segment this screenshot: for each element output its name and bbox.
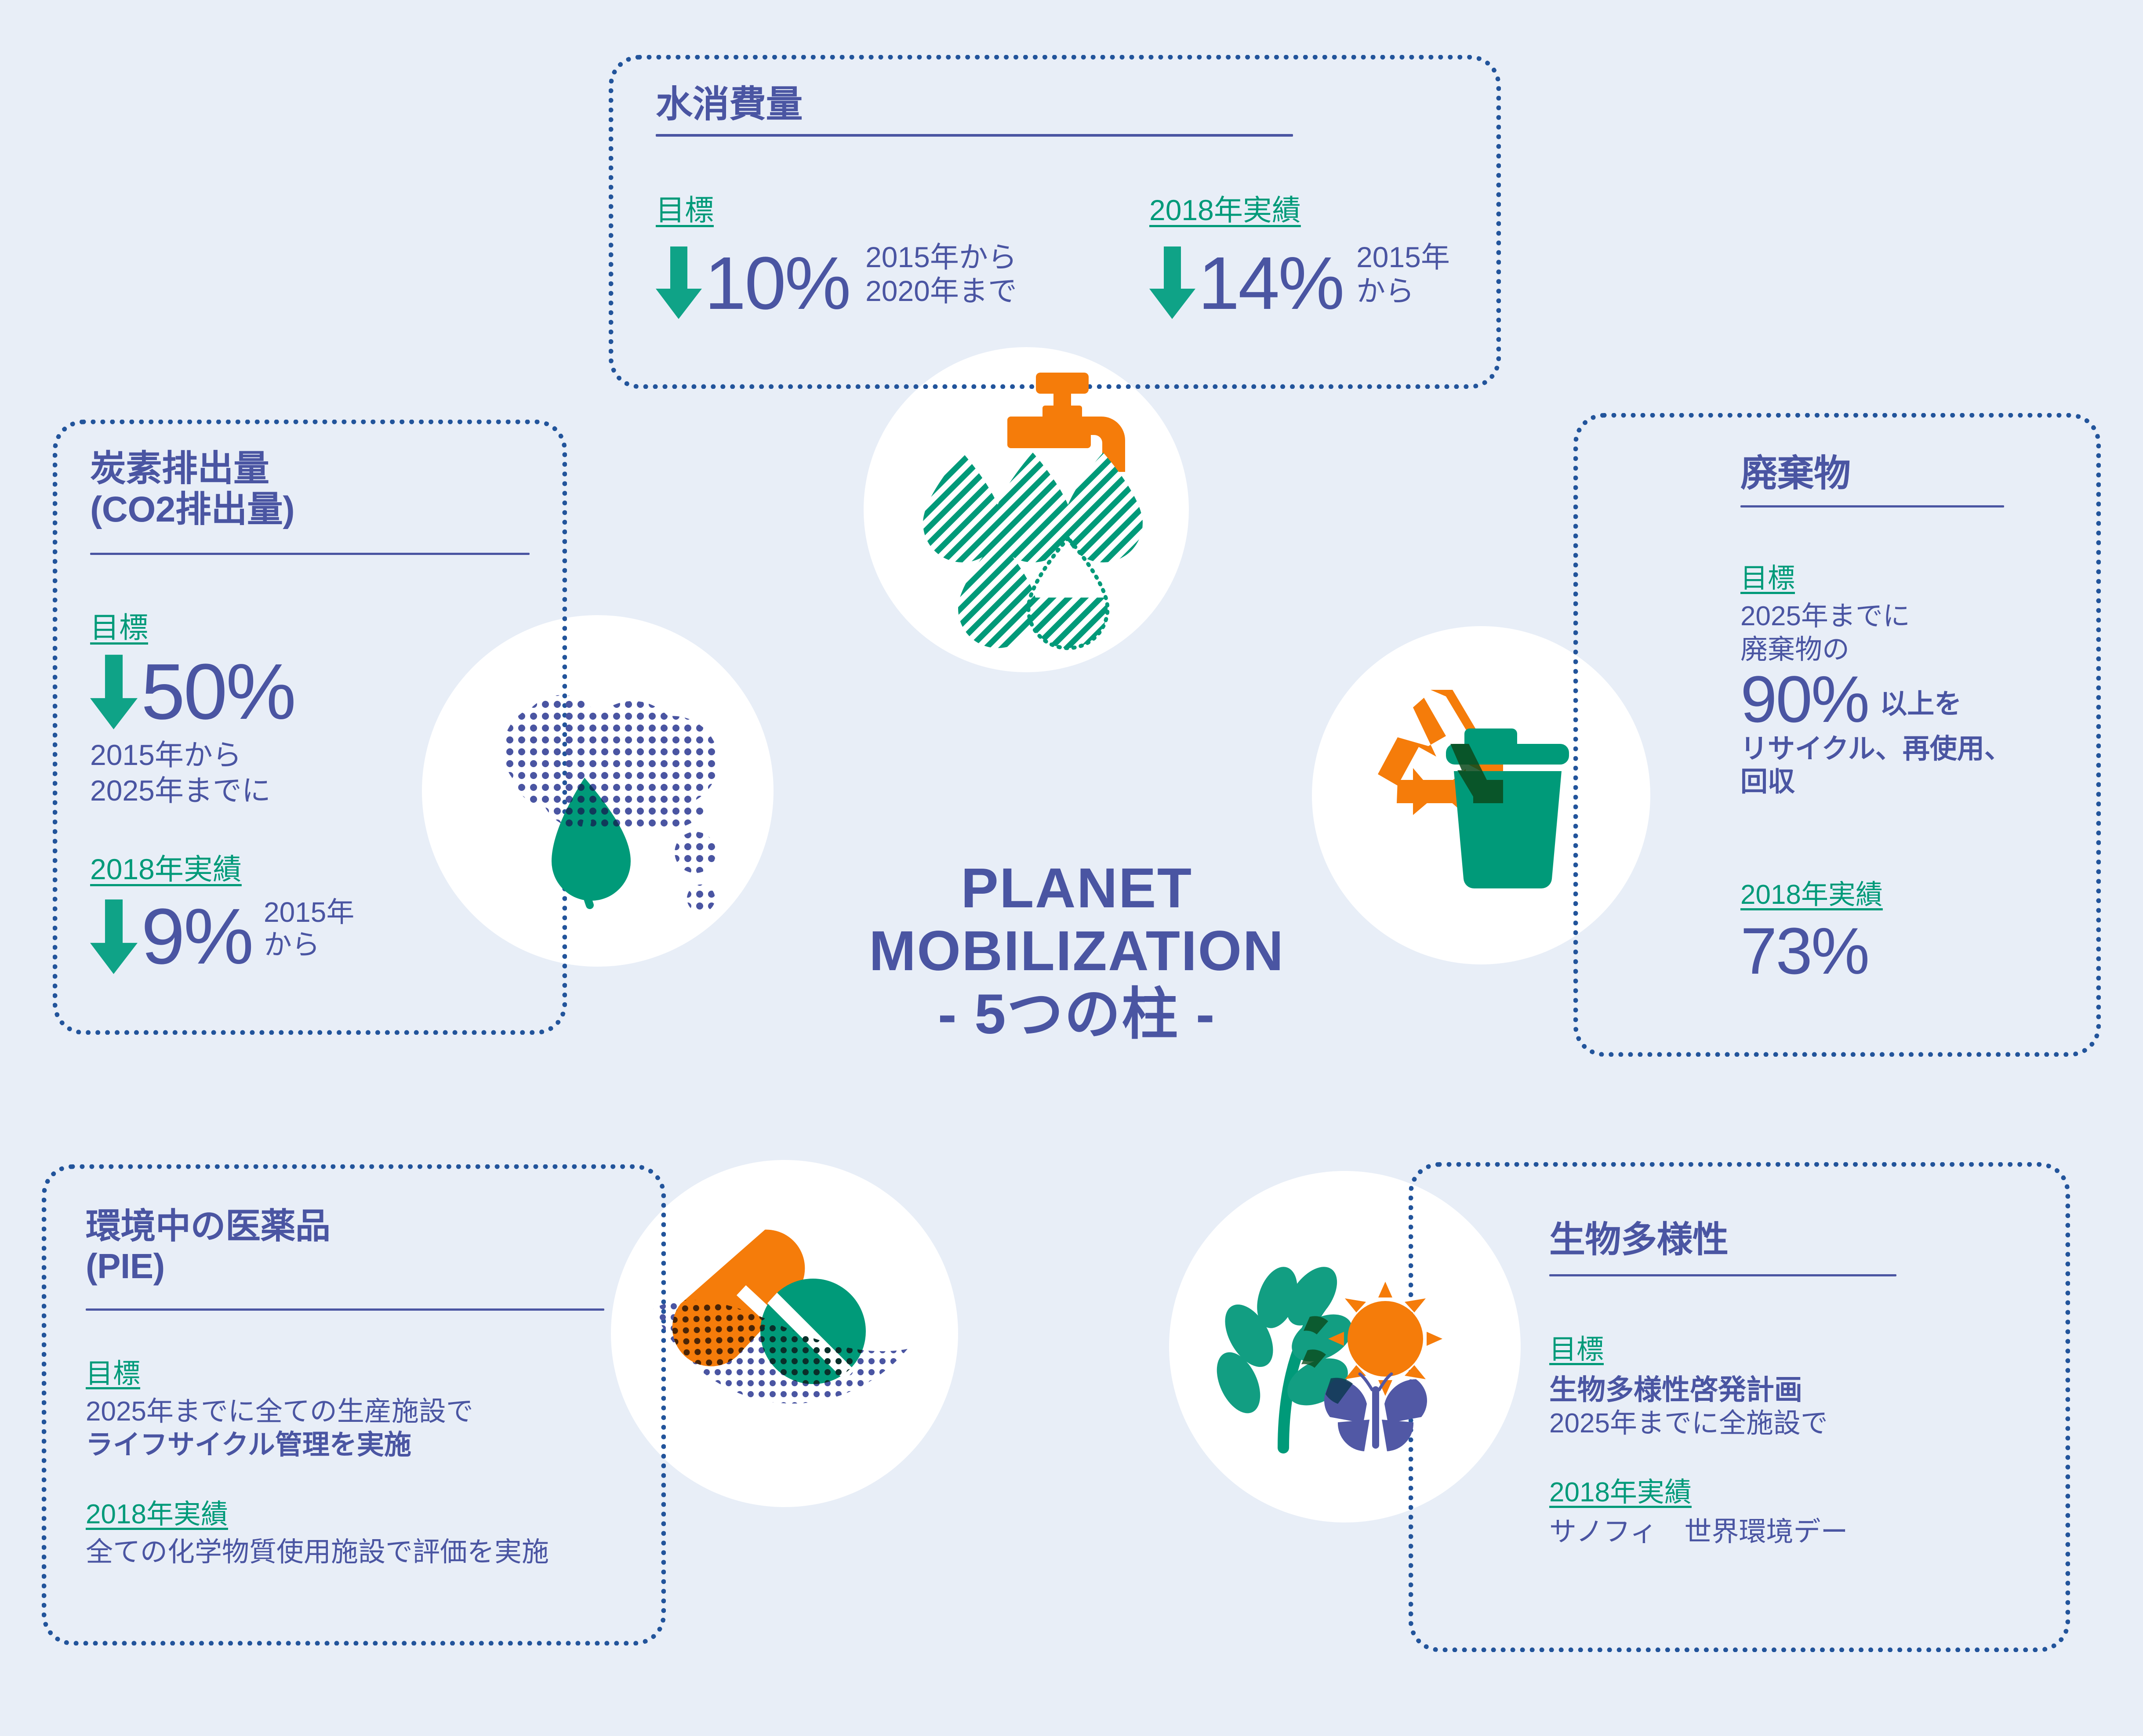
pie-result-group: 2018年実績 全ての化学物質使用施設で評価を実施	[86, 1492, 549, 1569]
water-target-note: 2015年から 2020年まで	[865, 240, 1017, 308]
water-result-note: 2015年 から	[1356, 240, 1450, 308]
waste-target-group: 目標 2025年までに 廃棄物の 90% 以上を リサイクル、再使用、 回収	[1740, 556, 2083, 799]
waste-target-suffix: 以上を	[1880, 688, 1961, 721]
biodiversity-card-title: 生物多様性	[1549, 1219, 1945, 1260]
water-result-value: 14%	[1198, 248, 1343, 319]
biodiversity-target-group: 目標 生物多様性啓発計画 2025年までに全施設で	[1549, 1327, 1828, 1440]
center-title-line-2: MOBILIZATION	[769, 920, 1384, 982]
waste-result-value: 73%	[1740, 920, 1883, 982]
down-arrow-icon	[656, 246, 702, 319]
carbon-result-group: 2018年実績 9% 2015年 から	[90, 846, 354, 974]
waste-card-title: 廃棄物	[1740, 453, 2092, 495]
carbon-result-label: 2018年実績	[90, 846, 242, 888]
pie-target-label: 目標	[86, 1351, 140, 1391]
carbon-result-note: 2015年 から	[264, 896, 354, 961]
carbon-target-label: 目標	[90, 604, 148, 646]
water-target-group: 目標 10% 2015年から 2020年まで	[656, 187, 1017, 319]
water-target-value: 10%	[705, 248, 850, 319]
biodiversity-result-text: サノフィ 世界環境デー	[1549, 1515, 1848, 1549]
carbon-title-rule	[90, 553, 530, 555]
water-card-title: 水消費量	[656, 83, 1315, 126]
center-title-line-1: PLANET	[769, 857, 1384, 920]
waste-result-group: 2018年実績 73%	[1740, 872, 1883, 982]
plant-sun-butterfly-icon	[1217, 1254, 1477, 1461]
water-drops-tap-icon	[910, 365, 1156, 646]
pie-target-group: 目標 2025年までに全ての生産施設で ライフサイクル管理を実施	[86, 1351, 473, 1461]
down-arrow-icon	[1149, 246, 1195, 319]
center-title: PLANET MOBILIZATION - 5つの柱 -	[769, 857, 1384, 1046]
pie-card-title: 環境中の医薬品 (PIE)	[86, 1206, 569, 1286]
recycle-bin-icon	[1371, 690, 1609, 905]
biodiversity-target-text: 2025年までに全施設で	[1549, 1407, 1828, 1440]
pie-target-text-bold: ライフサイクル管理を実施	[86, 1428, 473, 1462]
waste-target-text-2: リサイクル、再使用、 回収	[1740, 732, 2083, 799]
water-target-label: 目標	[656, 187, 714, 229]
pills-leaf-icon	[637, 1226, 923, 1450]
carbon-target-note: 2015年から 2025年までに	[90, 737, 294, 808]
water-result-group: 2018年実績 14% 2015年 から	[1149, 187, 1450, 319]
pie-title-rule	[86, 1308, 604, 1311]
water-title-text: 水消費量	[656, 83, 1315, 126]
waste-target-label: 目標	[1740, 556, 1795, 595]
carbon-result-value: 9%	[141, 899, 252, 974]
infographic-canvas: 水消費量 目標 10% 2015年から 2020年まで 2018年実績 14% …	[0, 0, 2143, 1736]
biodiversity-target-text-bold: 生物多様性啓発計画	[1549, 1373, 1828, 1407]
carbon-target-value: 50%	[141, 654, 294, 729]
pie-title-text: 環境中の医薬品 (PIE)	[86, 1206, 569, 1286]
biodiversity-result-label: 2018年実績	[1549, 1470, 1692, 1509]
waste-target-text-1: 2025年までに 廃棄物の	[1740, 600, 2083, 666]
pie-result-label: 2018年実績	[86, 1492, 228, 1531]
down-arrow-icon	[90, 899, 138, 974]
waste-target-value: 90%	[1740, 668, 1868, 731]
biodiversity-title-rule	[1549, 1274, 1896, 1276]
biodiversity-target-label: 目標	[1549, 1327, 1604, 1366]
cloud-leaf-icon	[470, 677, 743, 923]
water-result-label: 2018年実績	[1149, 187, 1301, 229]
carbon-title-text: 炭素排出量 (CO2排出量)	[90, 448, 556, 530]
down-arrow-icon	[90, 655, 138, 729]
pie-result-text: 全ての化学物質使用施設で評価を実施	[86, 1536, 549, 1569]
carbon-target-group: 目標 50% 2015年から 2025年までに	[90, 604, 294, 808]
pie-target-text: 2025年までに全ての生産施設で	[86, 1395, 473, 1428]
water-title-rule	[656, 134, 1293, 137]
center-title-line-3: - 5つの柱 -	[769, 983, 1384, 1046]
waste-result-label: 2018年実績	[1740, 872, 1883, 912]
biodiversity-result-group: 2018年実績 サノフィ 世界環境デー	[1549, 1470, 1848, 1549]
waste-title-rule	[1740, 505, 2004, 507]
waste-title-text: 廃棄物	[1740, 453, 2092, 495]
carbon-card-title: 炭素排出量 (CO2排出量)	[90, 448, 556, 530]
biodiversity-title-text: 生物多様性	[1549, 1219, 1945, 1260]
